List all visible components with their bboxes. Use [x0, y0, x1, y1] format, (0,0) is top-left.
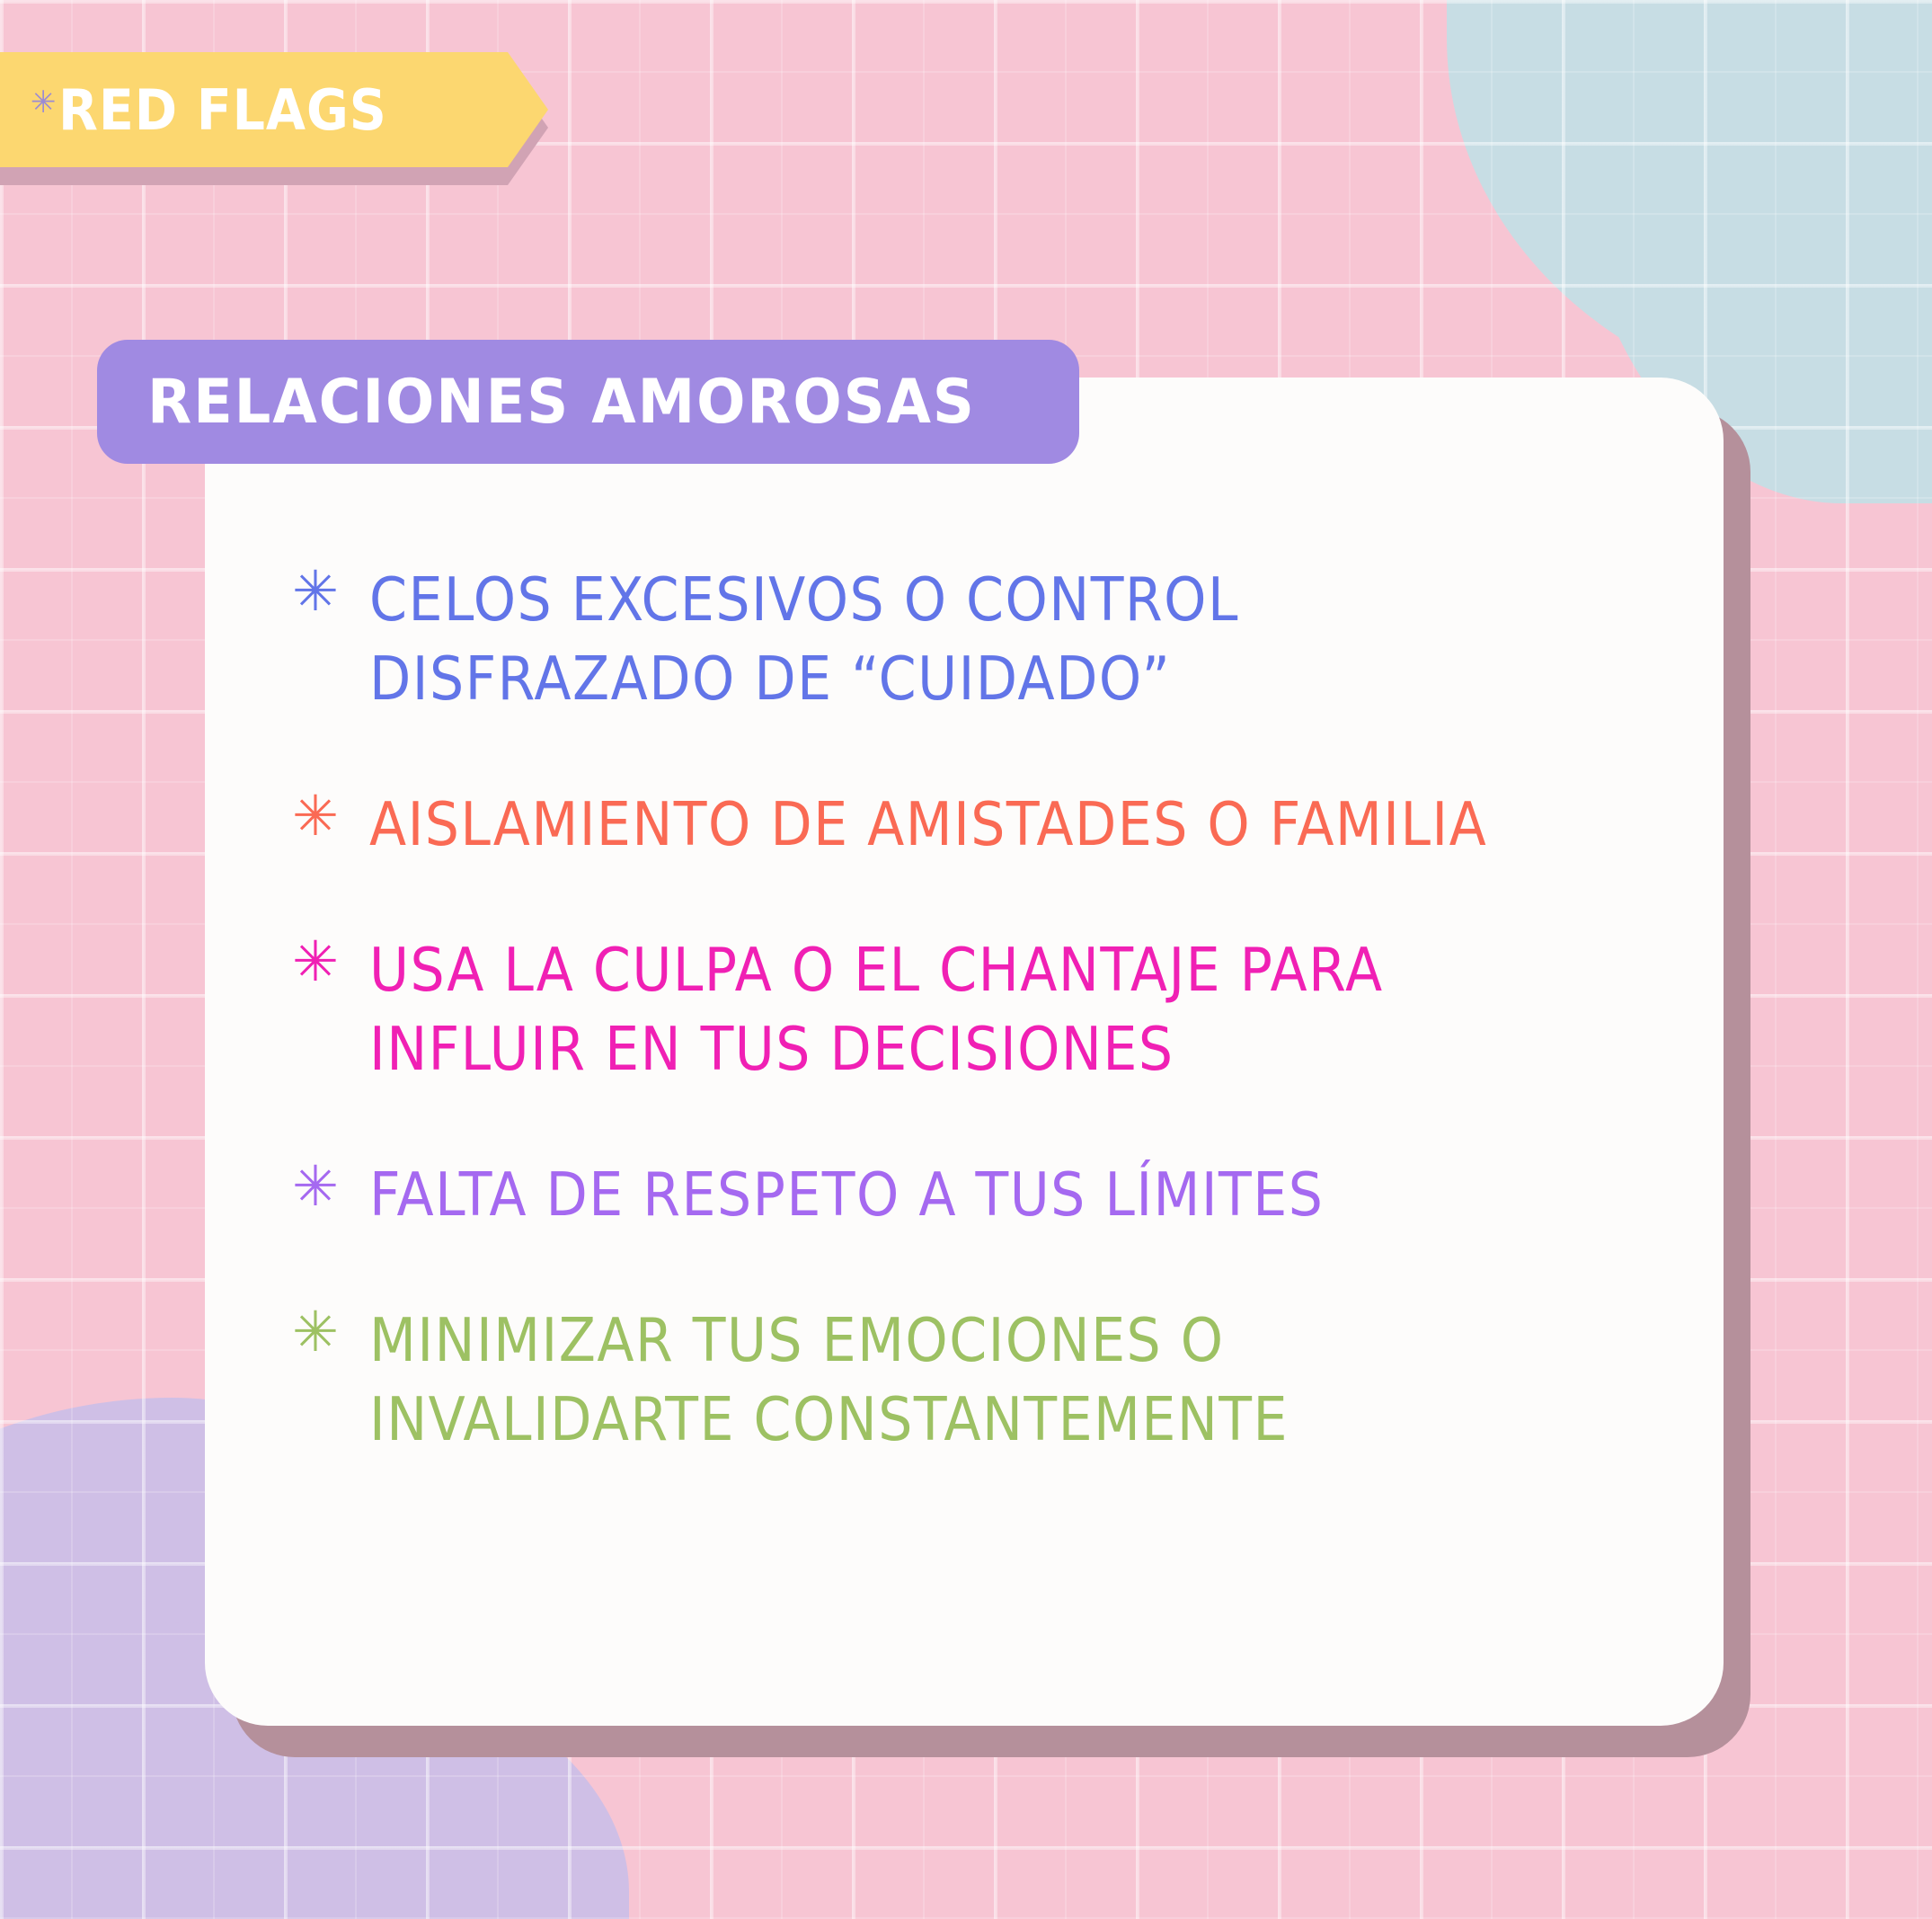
- poster-canvas: ✳ RED FLAGS RELACIONES AMOROSAS ✳ CELOS …: [0, 0, 1932, 1919]
- list-item-text: MINIMIZAR TUS EMOCIONES O INVALIDARTE CO…: [369, 1298, 1694, 1456]
- list-item-line-2: DISFRAZADO DE “CUIDADO”: [369, 636, 1654, 722]
- red-flags-banner: ✳ RED FLAGS: [0, 52, 548, 167]
- asterisk-bullet-icon: ✳: [292, 557, 369, 626]
- list-item-line-2: INFLUIR EN TUS DECISIONES: [369, 1007, 1654, 1092]
- asterisk-bullet-icon: ✳: [292, 1298, 369, 1366]
- list-item: ✳ USA LA CULPA O EL CHANTAJE PARA INFLUI…: [292, 928, 1694, 1086]
- list-item: ✳ MINIMIZAR TUS EMOCIONES O INVALIDARTE …: [292, 1298, 1694, 1456]
- list-item-line-1: MINIMIZAR TUS EMOCIONES O: [369, 1298, 1654, 1383]
- section-title-pill: RELACIONES AMOROSAS: [97, 340, 1079, 464]
- asterisk-bullet-icon: ✳: [292, 928, 369, 996]
- list-item: ✳ CELOS EXCESIVOS O CONTROL DISFRAZADO D…: [292, 557, 1694, 715]
- list-item-text: CELOS EXCESIVOS O CONTROL DISFRAZADO DE …: [369, 557, 1694, 715]
- banner-label: RED FLAGS: [58, 77, 387, 143]
- red-flags-list: ✳ CELOS EXCESIVOS O CONTROL DISFRAZADO D…: [292, 557, 1694, 1456]
- list-item-text: FALTA DE RESPETO A TUS LÍMITES: [369, 1152, 1694, 1231]
- list-item-line-1: AISLAMIENTO DE AMISTADES O FAMILIA: [369, 782, 1654, 867]
- section-title-label: RELACIONES AMOROSAS: [147, 367, 976, 438]
- list-item-text: USA LA CULPA O EL CHANTAJE PARA INFLUIR …: [369, 928, 1694, 1086]
- list-item: ✳ FALTA DE RESPETO A TUS LÍMITES: [292, 1152, 1694, 1231]
- list-item-line-1: USA LA CULPA O EL CHANTAJE PARA: [369, 928, 1654, 1013]
- asterisk-bullet-icon: ✳: [292, 1152, 369, 1221]
- asterisk-icon: ✳: [31, 87, 57, 118]
- list-item-line-1: FALTA DE RESPETO A TUS LÍMITES: [369, 1152, 1654, 1238]
- list-item-text: AISLAMIENTO DE AMISTADES O FAMILIA: [369, 782, 1694, 861]
- list-item-line-2: INVALIDARTE CONSTANTEMENTE: [369, 1377, 1654, 1462]
- asterisk-bullet-icon: ✳: [292, 782, 369, 850]
- list-item: ✳ AISLAMIENTO DE AMISTADES O FAMILIA: [292, 782, 1694, 861]
- list-item-line-1: CELOS EXCESIVOS O CONTROL: [369, 557, 1654, 643]
